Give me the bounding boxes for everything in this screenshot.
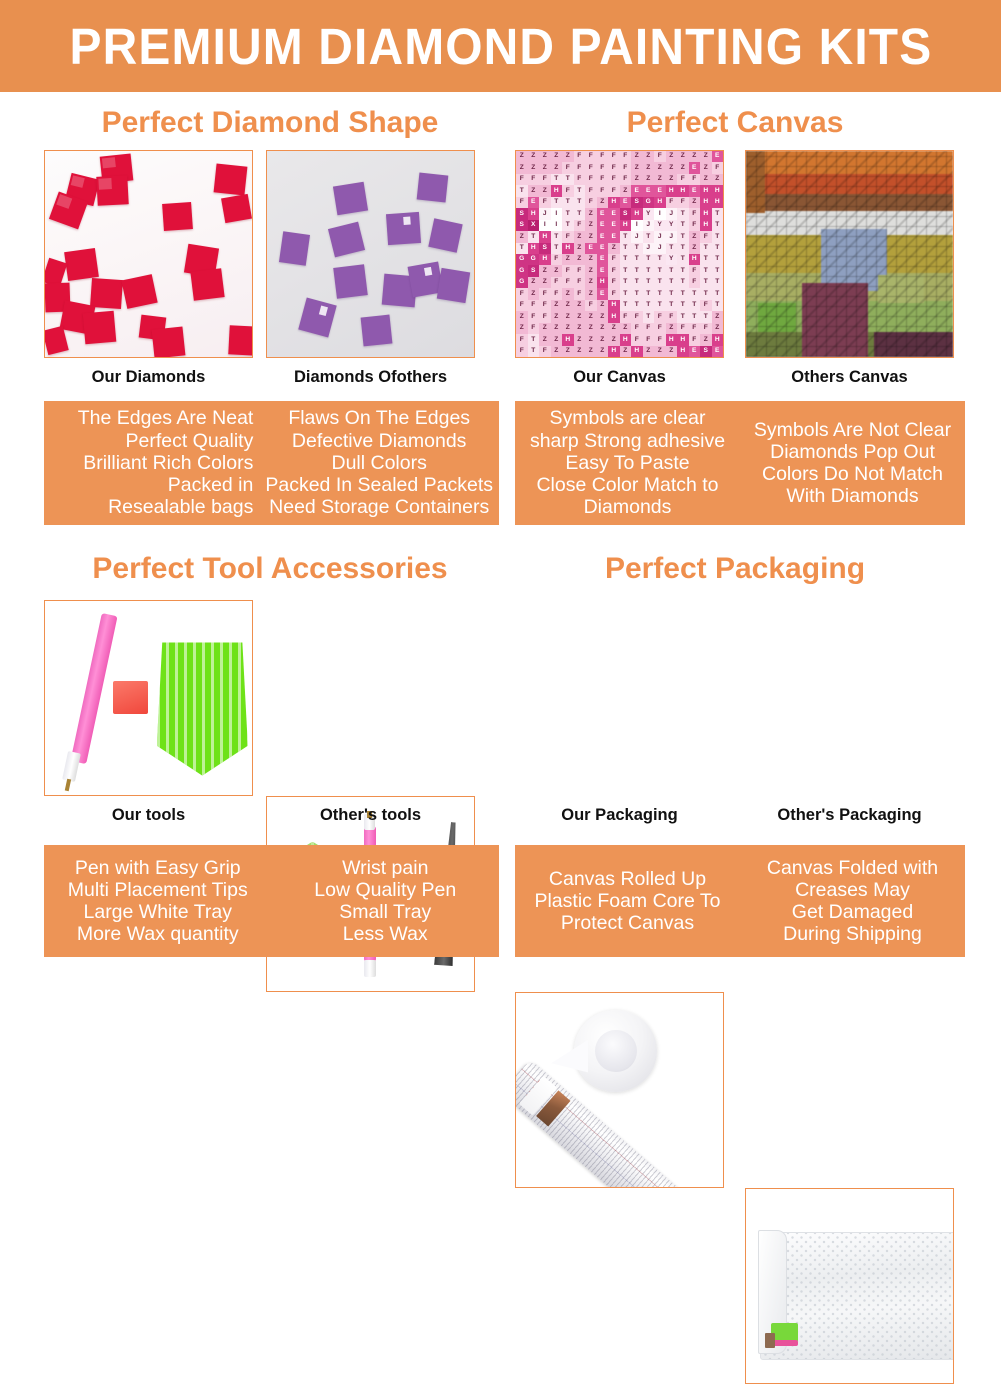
canvas-symbol-cell: T: [712, 254, 724, 265]
canvas-symbol-cell: Z: [574, 243, 586, 254]
canvas-symbol-cell: Z: [539, 334, 551, 345]
canvas-symbol-cell: Z: [689, 231, 701, 242]
panel-line: Defective Diamonds: [292, 430, 467, 452]
panel-line: Protect Canvas: [561, 912, 694, 934]
canvas-symbol-cell: F: [677, 197, 689, 208]
canvas-symbol-cell: F: [608, 151, 620, 162]
canvas-symbol-cell: Y: [643, 208, 655, 219]
canvas-symbol-cell: H: [677, 334, 689, 345]
canvas-symbol-cell: H: [677, 185, 689, 196]
canvas-symbol-cell: T: [712, 220, 724, 231]
canvas-symbol-cell: Z: [528, 277, 540, 288]
caption-other-tools: Other's tools: [266, 806, 475, 825]
canvas-symbol-cell: Z: [689, 243, 701, 254]
canvas-symbol-cell: Z: [574, 346, 586, 357]
canvas-symbol-cell: F: [528, 300, 540, 311]
canvas-symbol-cell: E: [620, 197, 632, 208]
canvas-symbol-cell: T: [677, 254, 689, 265]
panel-line: Packed in: [168, 474, 254, 496]
panel-column-theirs: Flaws On The Edges Defective Diamonds Du…: [259, 401, 499, 525]
canvas-symbol-cell: F: [654, 334, 666, 345]
canvas-symbol-cell: F: [585, 162, 597, 173]
canvas-symbol-cell: Z: [574, 334, 586, 345]
panel-line: The Edges Are Neat: [78, 407, 254, 429]
canvas-symbol-cell: J: [631, 231, 643, 242]
canvas-symbol-cell: T: [620, 254, 632, 265]
canvas-symbol-cell: Z: [631, 162, 643, 173]
canvas-symbol-cell: Y: [666, 254, 678, 265]
canvas-symbol-cell: F: [597, 162, 609, 173]
canvas-symbol-cell: Z: [608, 323, 620, 334]
canvas-symbol-cell: F: [574, 174, 586, 185]
canvas-symbol-cell: S: [516, 208, 528, 219]
canvas-symbol-cell: F: [654, 151, 666, 162]
canvas-symbol-cell: F: [597, 174, 609, 185]
canvas-symbol-cell: T: [643, 300, 655, 311]
canvas-symbol-cell: F: [585, 174, 597, 185]
canvas-symbol-cell: T: [551, 174, 563, 185]
canvas-symbol-cell: H: [620, 334, 632, 345]
panel-line: Easy To Paste: [565, 452, 689, 474]
canvas-symbol-cell: T: [654, 254, 666, 265]
canvas-symbol-cell: Z: [585, 323, 597, 334]
panel-column-ours: Pen with Easy Grip Multi Placement Tips …: [44, 845, 272, 957]
canvas-symbol-cell: F: [608, 265, 620, 276]
section-heading-canvas: Perfect Canvas: [505, 106, 965, 140]
canvas-symbol-cell: Z: [562, 254, 574, 265]
canvas-symbol-cell: Z: [643, 346, 655, 357]
panel-line: Diamonds: [584, 496, 672, 518]
canvas-symbol-cell: Z: [620, 346, 632, 357]
canvas-symbol-cell: F: [516, 197, 528, 208]
panel-line: Small Tray: [339, 901, 431, 923]
canvas-symbol-cell: Z: [666, 174, 678, 185]
canvas-symbol-cell: Z: [585, 208, 597, 219]
canvas-symbol-cell: Z: [562, 151, 574, 162]
canvas-symbol-cell: Z: [585, 231, 597, 242]
canvas-symbol-cell: F: [689, 174, 701, 185]
canvas-symbol-cell: E: [528, 197, 540, 208]
canvas-symbol-cell: T: [677, 208, 689, 219]
canvas-symbol-cell: F: [700, 231, 712, 242]
canvas-symbol-cell: H: [539, 231, 551, 242]
panel-line: Packed In Sealed Packets: [265, 474, 493, 496]
canvas-symbol-cell: Z: [574, 231, 586, 242]
canvas-symbol-cell: F: [700, 300, 712, 311]
canvas-symbol-cell: H: [597, 277, 609, 288]
canvas-symbol-cell: S: [700, 346, 712, 357]
canvas-symbol-cell: T: [700, 277, 712, 288]
canvas-symbol-cell: Z: [654, 174, 666, 185]
canvas-symbol-cell: H: [620, 220, 632, 231]
canvas-symbol-cell: T: [631, 288, 643, 299]
comparison-panel-diamond-shape: The Edges Are Neat Perfect Quality Brill…: [44, 401, 499, 525]
caption-our-diamonds: Our Diamonds: [44, 368, 253, 387]
canvas-symbol-cell: T: [551, 197, 563, 208]
canvas-symbol-cell: Z: [597, 300, 609, 311]
canvas-symbol-cell: T: [700, 311, 712, 322]
caption-our-tools: Our tools: [44, 806, 253, 825]
panel-line: Pen with Easy Grip: [75, 857, 241, 879]
canvas-symbol-cell: E: [689, 185, 701, 196]
panel-line: Brilliant Rich Colors: [83, 452, 253, 474]
canvas-symbol-cell: Z: [551, 323, 563, 334]
section-heading-packaging: Perfect Packaging: [505, 552, 965, 586]
canvas-symbol-cell: F: [643, 334, 655, 345]
canvas-symbol-cell: E: [643, 185, 655, 196]
canvas-symbol-cell: T: [574, 197, 586, 208]
canvas-symbol-cell: T: [516, 185, 528, 196]
panel-column-theirs: Wrist pain Low Quality Pen Small Tray Le…: [272, 845, 500, 957]
panel-line: Get Damaged: [792, 901, 913, 923]
canvas-symbol-cell: T: [677, 300, 689, 311]
canvas-symbol-cell: F: [562, 162, 574, 173]
canvas-symbol-cell: T: [654, 288, 666, 299]
canvas-symbol-cell: T: [631, 300, 643, 311]
canvas-symbol-cell: E: [608, 220, 620, 231]
canvas-symbol-cell: Z: [516, 231, 528, 242]
canvas-symbol-cell: Z: [597, 323, 609, 334]
canvas-symbol-cell: H: [700, 220, 712, 231]
canvas-symbol-cell: E: [712, 346, 724, 357]
canvas-symbol-cell: F: [608, 288, 620, 299]
canvas-symbol-cell: F: [608, 162, 620, 173]
canvas-symbol-cell: H: [712, 334, 724, 345]
canvas-symbol-cell: T: [620, 265, 632, 276]
canvas-symbol-cell: Z: [585, 288, 597, 299]
caption-our-packaging: Our Packaging: [515, 806, 724, 825]
canvas-symbol-cell: F: [677, 174, 689, 185]
canvas-symbol-cell: Z: [608, 334, 620, 345]
canvas-symbol-cell: E: [631, 185, 643, 196]
canvas-symbol-cell: F: [608, 254, 620, 265]
canvas-symbol-cell: T: [677, 243, 689, 254]
canvas-symbol-cell: Z: [539, 277, 551, 288]
canvas-symbol-cell: H: [666, 185, 678, 196]
canvas-symbol-cell: F: [551, 277, 563, 288]
canvas-symbol-cell: F: [516, 346, 528, 357]
canvas-symbol-cell: Z: [712, 323, 724, 334]
canvas-symbol-cell: H: [700, 208, 712, 219]
canvas-symbol-cell: S: [539, 243, 551, 254]
canvas-symbol-cell: S: [528, 265, 540, 276]
canvas-symbol-cell: T: [712, 288, 724, 299]
canvas-symbol-cell: T: [562, 174, 574, 185]
canvas-symbol-cell: Z: [562, 323, 574, 334]
canvas-symbol-cell: Z: [551, 346, 563, 357]
panel-line: Creases May: [795, 879, 910, 901]
canvas-symbol-cell: T: [620, 277, 632, 288]
canvas-symbol-cell: F: [677, 323, 689, 334]
canvas-symbol-cell: Z: [654, 346, 666, 357]
panel-line: Resealable bags: [108, 496, 253, 518]
canvas-symbol-cell: Z: [643, 162, 655, 173]
canvas-symbol-cell: F: [516, 288, 528, 299]
canvas-symbol-cell: T: [631, 254, 643, 265]
canvas-symbol-cell: Z: [551, 265, 563, 276]
canvas-symbol-cell: T: [643, 265, 655, 276]
canvas-symbol-cell: T: [700, 243, 712, 254]
canvas-symbol-cell: Z: [539, 162, 551, 173]
canvas-symbol-cell: H: [608, 197, 620, 208]
canvas-symbol-cell: S: [516, 220, 528, 231]
canvas-symbol-cell: F: [528, 323, 540, 334]
canvas-symbol-cell: Z: [551, 334, 563, 345]
canvas-symbol-cell: G: [643, 197, 655, 208]
panel-line: More Wax quantity: [77, 923, 239, 945]
canvas-symbol-cell: J: [666, 231, 678, 242]
canvas-symbol-cell: T: [631, 265, 643, 276]
canvas-symbol-cell: T: [666, 277, 678, 288]
canvas-symbol-cell: F: [620, 162, 632, 173]
canvas-symbol-cell: Z: [551, 311, 563, 322]
canvas-symbol-cell: F: [585, 300, 597, 311]
canvas-symbol-cell: H: [700, 197, 712, 208]
canvas-symbol-cell: Z: [516, 151, 528, 162]
panel-line: Perfect Quality: [125, 430, 253, 452]
canvas-symbol-cell: F: [585, 151, 597, 162]
canvas-symbol-cell: Z: [689, 197, 701, 208]
canvas-symbol-cell: H: [654, 197, 666, 208]
canvas-symbol-cell: T: [562, 208, 574, 219]
canvas-symbol-cell: S: [631, 197, 643, 208]
canvas-symbol-cell: E: [608, 208, 620, 219]
canvas-symbol-cell: T: [689, 311, 701, 322]
canvas-symbol-cell: Y: [654, 220, 666, 231]
canvas-symbol-cell: F: [689, 220, 701, 231]
panel-line: Multi Placement Tips: [68, 879, 248, 901]
canvas-symbol-cell: T: [654, 300, 666, 311]
canvas-symbol-cell: F: [631, 323, 643, 334]
canvas-symbol-cell: Z: [574, 311, 586, 322]
canvas-symbol-cell: F: [608, 185, 620, 196]
canvas-symbol-cell: F: [689, 323, 701, 334]
canvas-symbol-cell: F: [539, 288, 551, 299]
canvas-symbol-cell: F: [574, 265, 586, 276]
panel-line: With Diamonds: [786, 485, 918, 507]
canvas-symbol-cell: F: [666, 197, 678, 208]
canvas-symbol-cell: H: [608, 300, 620, 311]
panel-line: Large White Tray: [84, 901, 232, 923]
canvas-symbol-cell: J: [654, 243, 666, 254]
canvas-symbol-cell: T: [574, 208, 586, 219]
canvas-symbol-cell: F: [562, 231, 574, 242]
canvas-symbol-cell: E: [608, 231, 620, 242]
canvas-symbol-cell: T: [574, 185, 586, 196]
canvas-symbol-cell: Z: [712, 174, 724, 185]
canvas-symbol-cell: E: [597, 265, 609, 276]
panel-line: Flaws On The Edges: [288, 407, 470, 429]
canvas-symbol-cell: F: [700, 323, 712, 334]
canvas-symbol-cell: F: [574, 162, 586, 173]
canvas-symbol-cell: Z: [597, 311, 609, 322]
canvas-symbol-cell: T: [643, 288, 655, 299]
pink-symbol-canvas-photo: ZZZZZFFFFFZZFZZZZEZZZZFFFFFFZZZZZEZFFFFT…: [515, 150, 724, 358]
canvas-symbol-cell: T: [666, 243, 678, 254]
canvas-symbol-cell: T: [712, 300, 724, 311]
panel-line: Need Storage Containers: [269, 496, 489, 518]
panel-column-theirs: Symbols Are Not Clear Diamonds Pop Out C…: [740, 401, 965, 525]
canvas-symbol-cell: Z: [551, 300, 563, 311]
canvas-symbol-cell: E: [597, 288, 609, 299]
canvas-symbol-cell: F: [539, 174, 551, 185]
canvas-symbol-cell: Z: [539, 265, 551, 276]
canvas-symbol-cell: T: [620, 231, 632, 242]
canvas-symbol-cell: J: [643, 220, 655, 231]
canvas-symbol-cell: H: [528, 208, 540, 219]
section-heading-diamond-shape: Perfect Diamond Shape: [40, 106, 500, 140]
canvas-symbol-cell: H: [700, 185, 712, 196]
wax-square: [113, 681, 148, 714]
canvas-symbol-cell: F: [528, 174, 540, 185]
canvas-symbol-cell: J: [643, 243, 655, 254]
comparison-panel-canvas: Symbols are clear sharp Strong adhesive …: [515, 401, 965, 525]
canvas-symbol-cell: Z: [712, 311, 724, 322]
canvas-symbol-cell: T: [666, 300, 678, 311]
canvas-symbol-cell: G: [516, 254, 528, 265]
canvas-symbol-cell: F: [562, 265, 574, 276]
canvas-symbol-cell: Z: [666, 346, 678, 357]
canvas-symbol-cell: F: [689, 334, 701, 345]
canvas-symbol-cell: F: [539, 197, 551, 208]
infographic-page: PREMIUM DIAMOND PAINTING KITS Perfect Di…: [0, 0, 1001, 1001]
canvas-symbol-cell: F: [597, 185, 609, 196]
canvas-symbol-cell: F: [516, 174, 528, 185]
canvas-symbol-cell: H: [712, 185, 724, 196]
panel-line: Canvas Rolled Up: [549, 868, 706, 890]
canvas-symbol-cell: Z: [643, 151, 655, 162]
panel-line: Low Quality Pen: [314, 879, 456, 901]
pink-pen: [71, 613, 118, 764]
panel-line: Diamonds Pop Out: [770, 441, 935, 463]
canvas-symbol-cell: Z: [516, 323, 528, 334]
canvas-symbol-cell: F: [712, 162, 724, 173]
canvas-symbol-cell: T: [677, 311, 689, 322]
canvas-symbol-cell: J: [539, 208, 551, 219]
canvas-symbol-cell: T: [562, 197, 574, 208]
panel-line: Symbols Are Not Clear: [754, 419, 951, 441]
canvas-symbol-cell: Z: [551, 151, 563, 162]
canvas-symbol-cell: T: [643, 311, 655, 322]
canvas-symbol-cell: H: [608, 346, 620, 357]
canvas-symbol-cell: E: [597, 254, 609, 265]
canvas-symbol-cell: T: [562, 220, 574, 231]
canvas-symbol-cell: T: [712, 231, 724, 242]
canvas-symbol-cell: Z: [608, 243, 620, 254]
canvas-symbol-cell: H: [631, 208, 643, 219]
canvas-symbol-cell: Z: [562, 311, 574, 322]
canvas-symbol-cell: G: [516, 277, 528, 288]
caption-our-canvas: Our Canvas: [515, 368, 724, 387]
purple-diamonds-photo: [266, 150, 475, 358]
canvas-symbol-cell: Z: [551, 162, 563, 173]
canvas-symbol-cell: Z: [666, 323, 678, 334]
canvas-symbol-cell: T: [689, 300, 701, 311]
canvas-symbol-cell: F: [574, 151, 586, 162]
large-white-tray: [157, 640, 248, 776]
canvas-symbol-cell: T: [654, 277, 666, 288]
panel-line: During Shipping: [783, 923, 922, 945]
canvas-symbol-cell: T: [666, 288, 678, 299]
panel-line: Less Wax: [343, 923, 428, 945]
canvas-symbol-cell: E: [597, 220, 609, 231]
comparison-panel-packaging: Canvas Rolled Up Plastic Foam Core To Pr…: [515, 845, 965, 957]
canvas-symbol-cell: F: [689, 208, 701, 219]
canvas-symbol-cell: I: [631, 220, 643, 231]
canvas-symbol-cell: F: [620, 174, 632, 185]
canvas-symbol-cell: I: [654, 208, 666, 219]
canvas-symbol-cell: H: [608, 311, 620, 322]
canvas-symbol-cell: T: [643, 277, 655, 288]
canvas-symbol-cell: T: [643, 254, 655, 265]
canvas-symbol-cell: Z: [585, 265, 597, 276]
canvas-symbol-cell: Z: [677, 162, 689, 173]
canvas-symbol-cell: F: [585, 185, 597, 196]
canvas-symbol-cell: H: [539, 254, 551, 265]
canvas-symbol-cell: T: [654, 265, 666, 276]
canvas-symbol-cell: H: [712, 197, 724, 208]
canvas-symbol-cell: H: [551, 185, 563, 196]
caption-others-diamonds: Diamonds Ofothers: [266, 368, 475, 387]
canvas-symbol-cell: E: [585, 243, 597, 254]
canvas-symbol-cell: Z: [562, 288, 574, 299]
canvas-symbol-cell: H: [562, 243, 574, 254]
canvas-symbol-cell: I: [551, 220, 563, 231]
canvas-symbol-cell: G: [516, 265, 528, 276]
canvas-symbol-cell: T: [528, 334, 540, 345]
canvas-symbol-cell: Z: [631, 174, 643, 185]
canvas-symbol-cell: Z: [574, 254, 586, 265]
canvas-symbol-cell: Z: [620, 185, 632, 196]
panel-column-theirs: Canvas Folded with Creases May Get Damag…: [740, 845, 965, 957]
canvas-symbol-cell: T: [620, 288, 632, 299]
canvas-symbol-cell: Z: [528, 151, 540, 162]
canvas-symbol-cell: Z: [654, 162, 666, 173]
canvas-symbol-cell: Z: [528, 162, 540, 173]
canvas-symbol-cell: T: [712, 277, 724, 288]
canvas-symbol-cell: F: [574, 277, 586, 288]
canvas-symbol-cell: F: [585, 197, 597, 208]
canvas-symbol-cell: S: [620, 208, 632, 219]
canvas-symbol-cell: T: [620, 243, 632, 254]
canvas-symbol-cell: H: [562, 334, 574, 345]
canvas-symbol-cell: F: [666, 311, 678, 322]
canvas-symbol-cell: H: [528, 243, 540, 254]
canvas-symbol-cell: T: [712, 243, 724, 254]
canvas-symbol-cell: Z: [585, 334, 597, 345]
canvas-symbol-cell: T: [620, 300, 632, 311]
canvas-symbol-cell: Z: [574, 300, 586, 311]
caption-other-packaging: Other's Packaging: [745, 806, 954, 825]
canvas-symbol-cell: T: [528, 231, 540, 242]
canvas-symbol-cell: T: [677, 231, 689, 242]
canvas-symbol-cell: T: [551, 231, 563, 242]
canvas-symbol-cell: F: [562, 277, 574, 288]
canvas-symbol-cell: F: [620, 151, 632, 162]
canvas-symbol-cell: Z: [528, 185, 540, 196]
canvas-symbol-cell: T: [700, 265, 712, 276]
canvas-symbol-cell: Z: [539, 185, 551, 196]
canvas-symbol-cell: F: [516, 334, 528, 345]
panel-line: Plastic Foam Core To: [534, 890, 720, 912]
canvas-symbol-cell: F: [597, 151, 609, 162]
canvas-symbol-cell: Z: [585, 346, 597, 357]
blurry-multicolor-canvas-photo: [745, 150, 954, 358]
canvas-symbol-cell: Z: [597, 346, 609, 357]
canvas-symbol-cell: Z: [516, 311, 528, 322]
canvas-symbol-cell: G: [528, 254, 540, 265]
canvas-symbol-cell: T: [712, 265, 724, 276]
